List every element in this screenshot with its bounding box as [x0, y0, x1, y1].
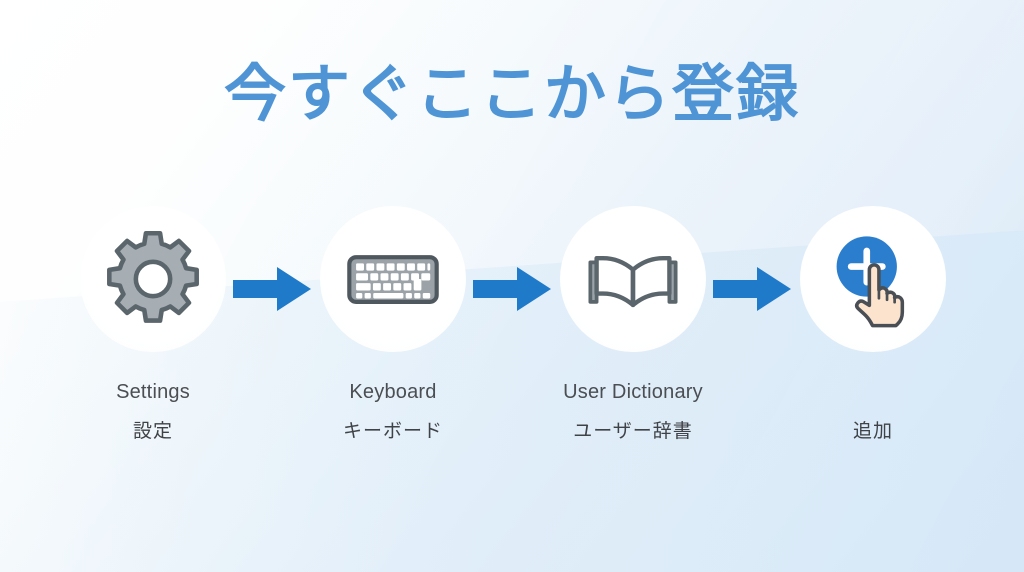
step-label-en: Keyboard: [273, 380, 513, 404]
step-label-ja: 追加: [753, 420, 993, 444]
arrow-right-1: [233, 264, 311, 314]
step-icon-circle: [80, 206, 226, 352]
step-item-settings[interactable]: Settings 設定: [33, 206, 273, 444]
step-item-add[interactable]: 追加: [753, 206, 993, 444]
step-icon-circle: [560, 206, 706, 352]
step-label-en: [753, 380, 993, 404]
step-label-ja: 設定: [33, 420, 273, 444]
slide-canvas: 今すぐここから登録 Settings 設定: [0, 0, 1024, 572]
page-title: 今すぐここから登録: [0, 62, 1024, 127]
step-label-ja: ユーザー辞書: [513, 420, 753, 444]
step-item-keyboard[interactable]: Keyboard キーボード: [273, 206, 513, 444]
arrow-right-2: [473, 264, 551, 314]
step-label-en: Settings: [33, 380, 273, 404]
step-icon-circle: [800, 206, 946, 352]
step-label-en: User Dictionary: [513, 380, 753, 404]
open-book-icon: [581, 227, 685, 331]
step-icon-circle: [320, 206, 466, 352]
add-tap-icon: [821, 227, 925, 331]
gear-icon: [101, 227, 205, 331]
step-flow: Settings 設定: [0, 206, 1024, 466]
arrow-right-3: [713, 264, 791, 314]
keyboard-icon: [341, 227, 445, 331]
step-item-user-dictionary[interactable]: User Dictionary ユーザー辞書: [513, 206, 753, 444]
step-label-ja: キーボード: [273, 420, 513, 444]
